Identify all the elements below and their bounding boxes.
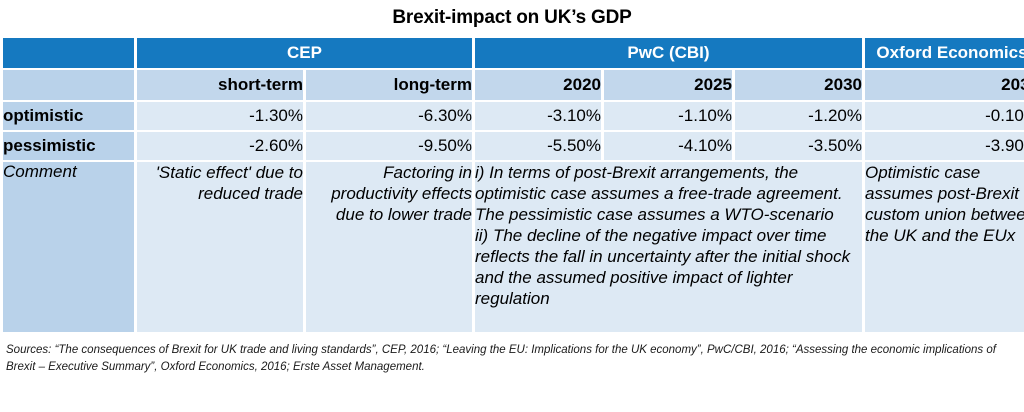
comment-pwc: i) In terms of post-Brexit arrangements,… [475, 162, 862, 332]
cell-pessimistic-pwc-2020: -5.50% [475, 132, 601, 160]
table-row: pessimistic -2.60% -9.50% -5.50% -4.10% … [3, 132, 1024, 160]
comment-cep-long-term: Factoring in productivity effects due to… [306, 162, 472, 332]
column-header-long-term: long-term [306, 70, 472, 100]
cell-optimistic-cep-short-term: -1.30% [137, 102, 303, 130]
sources-footnote: Sources: “The consequences of Brexit for… [0, 334, 1024, 376]
comment-cep-short-term: 'Static effect' due to reduced trade [137, 162, 303, 332]
column-header-row: short-term long-term 2020 2025 2030 2030 [3, 70, 1024, 100]
cell-pessimistic-cep-short-term: -2.60% [137, 132, 303, 160]
row-label-pessimistic: pessimistic [3, 132, 134, 160]
table-row: optimistic -1.30% -6.30% -3.10% -1.10% -… [3, 102, 1024, 130]
brexit-impact-table: CEP PwC (CBI) Oxford Economics short-ter… [0, 36, 1024, 334]
page-title: Brexit-impact on UK’s GDP [0, 0, 1024, 36]
column-header-stub [3, 70, 134, 100]
group-header-blank [3, 38, 134, 68]
cell-optimistic-pwc-2030: -1.20% [735, 102, 862, 130]
cell-optimistic-pwc-2025: -1.10% [604, 102, 732, 130]
column-header-2020: 2020 [475, 70, 601, 100]
comment-oxford-economics: Optimistic case assumes post-Brexit a cu… [865, 162, 1024, 332]
column-header-short-term: short-term [137, 70, 303, 100]
group-header-oxford-economics: Oxford Economics [865, 38, 1024, 68]
cell-optimistic-cep-long-term: -6.30% [306, 102, 472, 130]
column-header-2030-oxford: 2030 [865, 70, 1024, 100]
cell-optimistic-pwc-2020: -3.10% [475, 102, 601, 130]
column-header-2025: 2025 [604, 70, 732, 100]
group-header-row: CEP PwC (CBI) Oxford Economics [3, 38, 1024, 68]
table-figure: Brexit-impact on UK’s GDP CEP PwC (CBI) … [0, 0, 1024, 412]
cell-pessimistic-cep-long-term: -9.50% [306, 132, 472, 160]
cell-optimistic-oxford-2030: -0.10% [865, 102, 1024, 130]
row-label-comment: Comment [3, 162, 134, 332]
row-label-optimistic: optimistic [3, 102, 134, 130]
cell-pessimistic-pwc-2025: -4.10% [604, 132, 732, 160]
cell-pessimistic-pwc-2030: -3.50% [735, 132, 862, 160]
group-header-pwc: PwC (CBI) [475, 38, 862, 68]
comment-row: Comment 'Static effect' due to reduced t… [3, 162, 1024, 332]
cell-pessimistic-oxford-2030: -3.90% [865, 132, 1024, 160]
group-header-cep: CEP [137, 38, 472, 68]
column-header-2030-pwc: 2030 [735, 70, 862, 100]
